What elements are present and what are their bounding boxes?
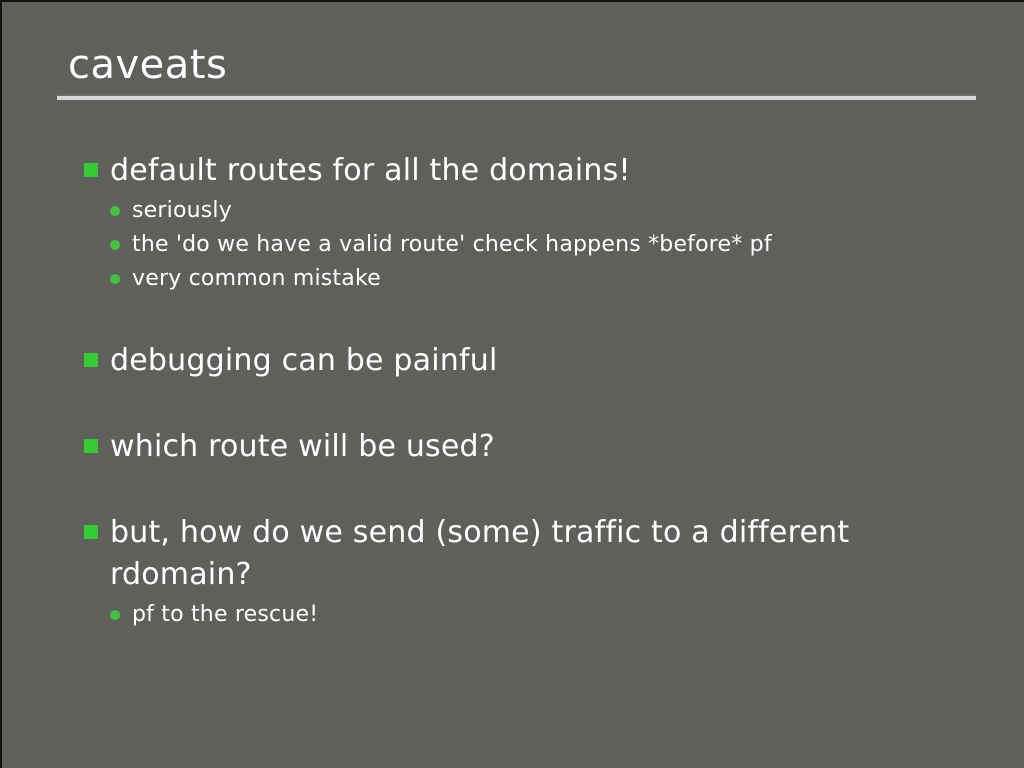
list-item-level2: seriously [80,194,980,228]
dot-bullet-icon [110,274,120,284]
title-divider [57,94,976,100]
presentation-slide: caveats default routes for all the domai… [0,0,1024,768]
square-bullet-icon [84,353,98,367]
square-bullet-icon [84,525,98,539]
page-title: caveats [57,40,976,90]
square-bullet-icon [84,163,98,177]
bullet-group: which route will be used? [80,426,980,468]
dot-bullet-icon [110,240,120,250]
list-item-label: which route will be used? [110,429,495,464]
list-item-label: debugging can be painful [110,343,498,378]
list-item-label: pf to the rescue! [132,602,318,627]
dot-bullet-icon [110,206,120,216]
list-item-level2: very common mistake [80,262,980,296]
list-item-label: the 'do we have a valid route' check hap… [132,232,772,257]
list-item-label: but, how do we send (some) traffic to a … [110,515,849,592]
square-bullet-icon [84,439,98,453]
list-item-level1: debugging can be painful [80,340,980,382]
bullet-group: debugging can be painful [80,340,980,382]
bullet-group: but, how do we send (some) traffic to a … [80,512,980,632]
bullet-group: default routes for all the domains! seri… [80,150,980,296]
sub-bullet-list: pf to the rescue! [80,598,980,632]
list-item-label: default routes for all the domains! [110,153,631,188]
list-item-label: very common mistake [132,266,381,291]
list-item-level1: default routes for all the domains! [80,150,980,192]
dot-bullet-icon [110,610,120,620]
list-item-level2: pf to the rescue! [80,598,980,632]
list-item-level2: the 'do we have a valid route' check hap… [80,228,980,262]
list-item-label: seriously [132,198,232,223]
slide-header: caveats [57,40,976,100]
sub-bullet-list: seriously the 'do we have a valid route'… [80,194,980,296]
list-item-level1: which route will be used? [80,426,980,468]
bullet-list: default routes for all the domains! seri… [80,150,980,632]
list-item-level1: but, how do we send (some) traffic to a … [80,512,980,596]
